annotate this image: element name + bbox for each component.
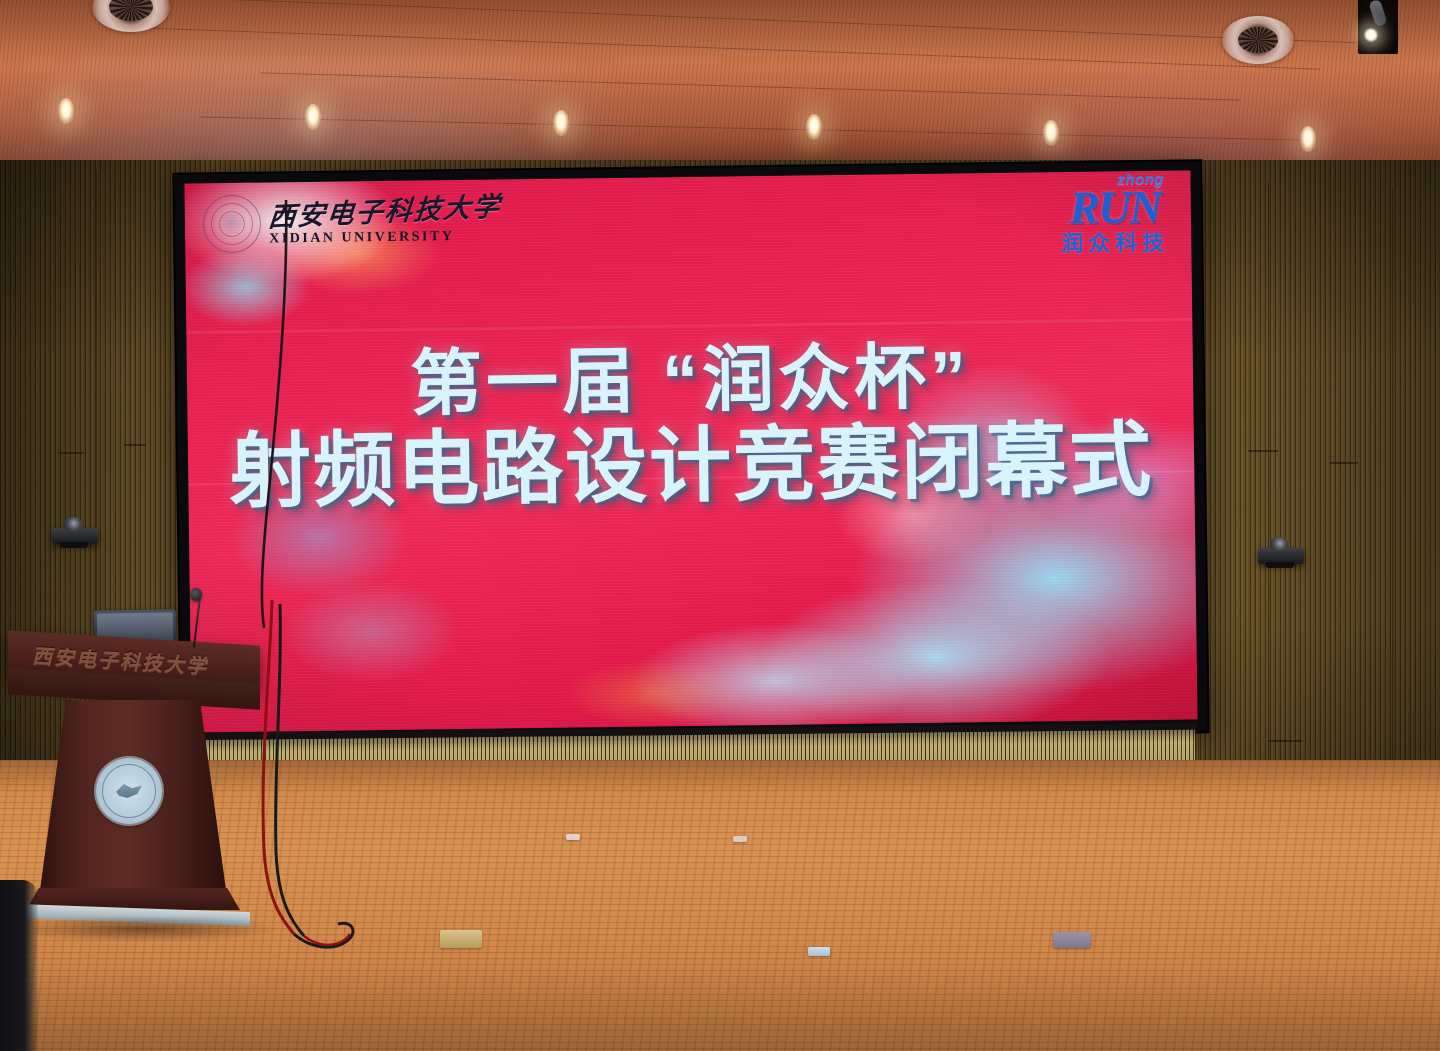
downlight bbox=[305, 104, 321, 130]
wall-mark bbox=[1268, 740, 1302, 742]
wall-mark bbox=[58, 452, 84, 454]
person-silhouette bbox=[0, 880, 38, 1051]
downlight bbox=[553, 110, 569, 136]
downlight bbox=[58, 98, 74, 124]
downlight bbox=[1043, 120, 1059, 146]
spotlight-glow bbox=[1364, 28, 1378, 42]
floor-port bbox=[1053, 932, 1091, 948]
downlight bbox=[1300, 126, 1316, 152]
auditorium-scene: 西安电子科技大学 XIDIAN UNIVERSITY RUN zhong 润众科… bbox=[0, 0, 1440, 1051]
wall-joint bbox=[1392, 190, 1393, 770]
wall-mark bbox=[1248, 450, 1278, 452]
cable-path-overhead bbox=[240, 200, 350, 630]
floor-port bbox=[808, 947, 830, 956]
floor-marker bbox=[733, 836, 747, 842]
wall-joint bbox=[1268, 180, 1269, 780]
floor-marker bbox=[566, 834, 580, 840]
floor-port bbox=[440, 930, 482, 948]
ceiling-vent-icon bbox=[1222, 16, 1294, 64]
wall-shading-right bbox=[1190, 160, 1440, 820]
spotlight-icon bbox=[1368, 0, 1387, 27]
microphone-icon bbox=[190, 588, 202, 601]
cable-paths bbox=[230, 600, 390, 960]
run-superscript: zhong bbox=[1117, 173, 1164, 188]
ptz-camera-right bbox=[1258, 548, 1304, 564]
run-wordmark-text: RUN bbox=[1069, 181, 1161, 233]
downlight bbox=[806, 114, 822, 140]
xidian-university-emblem bbox=[96, 758, 162, 824]
overhead-cable bbox=[240, 200, 350, 630]
wall-mark bbox=[124, 444, 146, 446]
runzhong-technology-logo: RUN zhong 润众科技 bbox=[1061, 185, 1170, 258]
ptz-camera-left bbox=[52, 528, 98, 544]
wall-mark bbox=[1330, 462, 1358, 464]
track-light-slot bbox=[1358, 0, 1398, 54]
audio-cable-group bbox=[230, 600, 390, 960]
run-wordmark: RUN zhong bbox=[1069, 185, 1161, 230]
